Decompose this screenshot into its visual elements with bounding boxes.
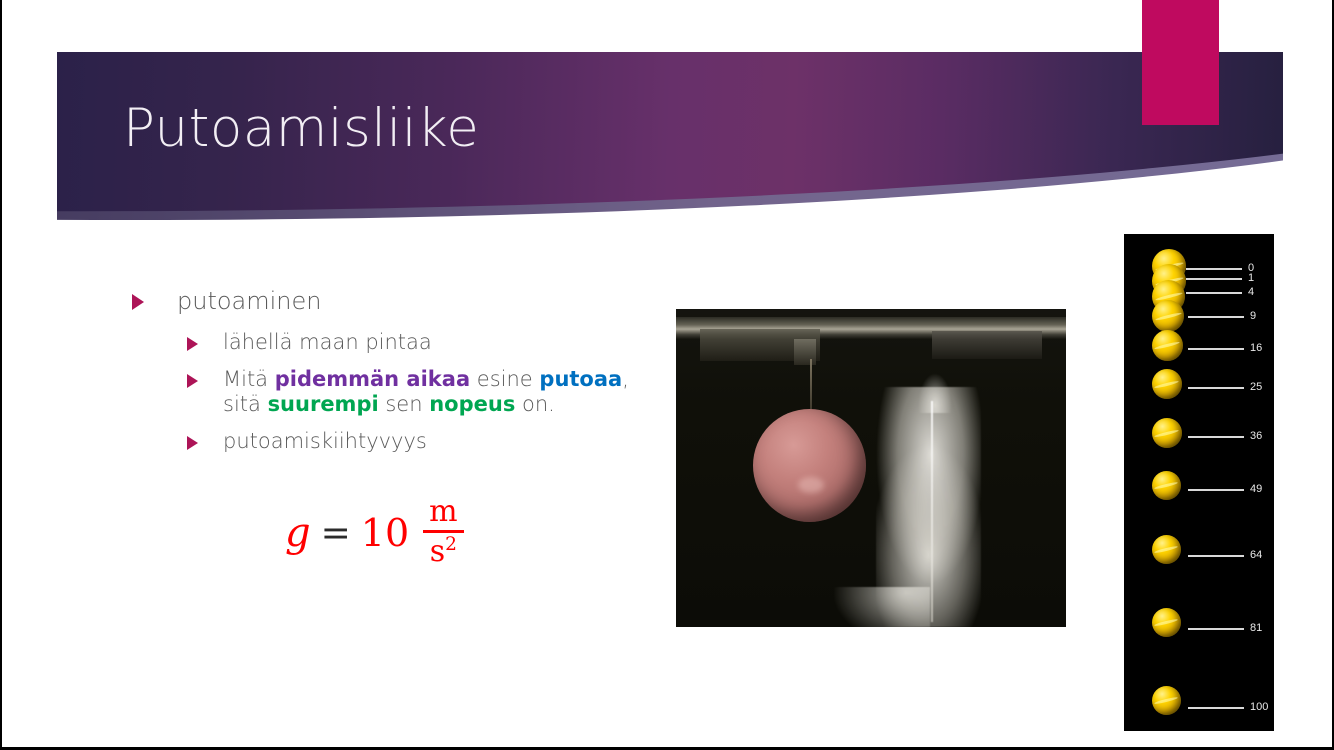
bullet-segment-green: suurempi: [268, 392, 379, 416]
strobe-marker-label: 100: [1250, 702, 1268, 713]
bullet-segment-plain: esine: [470, 367, 539, 391]
list-item: Mitä pidemmän aikaa esine putoaa, sitä s…: [187, 367, 652, 418]
strobe-marker-label: 36: [1250, 431, 1262, 442]
strobe-marker-label: 1: [1248, 273, 1254, 284]
bowling-ball: [753, 409, 866, 522]
accent-rectangle: [1142, 0, 1219, 125]
strobe-marker-line: [1188, 489, 1244, 491]
formula-numerator: m: [423, 497, 463, 530]
strobe-marker-line: [1188, 628, 1244, 630]
strobe-ball: [1152, 535, 1181, 564]
title-banner: Putoamisliike: [57, 52, 1283, 227]
strobe-marker-line: [1188, 436, 1244, 438]
feather-quill: [931, 401, 933, 622]
triangle-bullet-icon: [187, 436, 198, 450]
strobe-marker-line: [1188, 387, 1244, 389]
denominator-base: s: [430, 534, 445, 569]
bullet-segment-purple: pidemmän aikaa: [275, 367, 470, 391]
ball-and-feather-photo: [676, 309, 1066, 627]
strobe-marker-label: 49: [1250, 484, 1262, 495]
strobe-marker-label: 64: [1250, 550, 1262, 561]
bullet-list: putoaminen lähellä maan pintaa Mitä pide…: [132, 286, 652, 465]
strobe-marker-label: 81: [1250, 623, 1262, 634]
strobe-marker-line: [1188, 316, 1244, 318]
triangle-bullet-icon: [187, 337, 198, 351]
strobe-ball: [1152, 330, 1183, 361]
strobe-ball: [1152, 471, 1181, 500]
strobe-marker-line: [1186, 268, 1242, 270]
list-item: putoaminen: [132, 286, 652, 316]
strobe-ball: [1152, 369, 1182, 399]
bullet-text: putoamiskiihtyvyys: [223, 429, 427, 455]
bullet-segment-plain: sen: [379, 392, 430, 416]
feather: [876, 387, 981, 627]
strobe-marker-line: [1186, 292, 1242, 294]
bullet-segment-green: nopeus: [429, 392, 515, 416]
triangle-bullet-icon: [132, 294, 144, 310]
strobe-marker-label: 25: [1250, 382, 1262, 393]
formula-denominator: s2: [424, 533, 463, 567]
feather-tail: [834, 587, 930, 627]
chamber-bracket-right: [932, 331, 1042, 359]
denominator-exponent: 2: [445, 534, 457, 555]
bullet-segment-blue: putoaa: [539, 367, 622, 391]
chamber-clamp: [794, 339, 816, 365]
strobe-ball: [1152, 608, 1181, 637]
formula-symbol-g: g: [285, 510, 311, 556]
page-title: Putoamisliike: [123, 98, 479, 159]
strobe-marker-line: [1188, 707, 1244, 709]
suspension-wire: [810, 359, 812, 414]
strobe-marker-line: [1188, 555, 1244, 557]
bullet-text: putoaminen: [177, 286, 321, 316]
strobe-marker-line: [1188, 348, 1244, 350]
strobe-marker-label: 4: [1248, 287, 1254, 298]
strobe-marker-label: 9: [1250, 311, 1256, 322]
strobe-marker-line: [1186, 278, 1242, 280]
gravity-formula: g = 10 m s2: [285, 498, 464, 568]
list-item: lähellä maan pintaa: [187, 330, 652, 356]
bullet-text-rich: Mitä pidemmän aikaa esine putoaa, sitä s…: [223, 367, 652, 418]
strobe-ball: [1152, 300, 1184, 332]
bullet-segment-plain: on.: [515, 392, 555, 416]
formula-unit-fraction: m s2: [423, 497, 463, 567]
slide-canvas: Putoamisliike putoaminen lähellä maan pi…: [0, 0, 1334, 750]
bullet-segment-plain: Mitä: [223, 367, 275, 391]
formula-value: 10: [361, 511, 409, 555]
strobe-ball: [1152, 686, 1181, 715]
strobe-ball: [1152, 418, 1182, 448]
strobe-marker-label: 16: [1250, 343, 1262, 354]
list-item: putoamiskiihtyvyys: [187, 429, 652, 455]
bullet-text: lähellä maan pintaa: [223, 330, 432, 356]
feather-tip: [918, 373, 952, 413]
triangle-bullet-icon: [187, 374, 198, 388]
formula-equals-sign: =: [321, 513, 351, 554]
stroboscopic-fall-image: 0149162536496481100: [1124, 234, 1274, 731]
